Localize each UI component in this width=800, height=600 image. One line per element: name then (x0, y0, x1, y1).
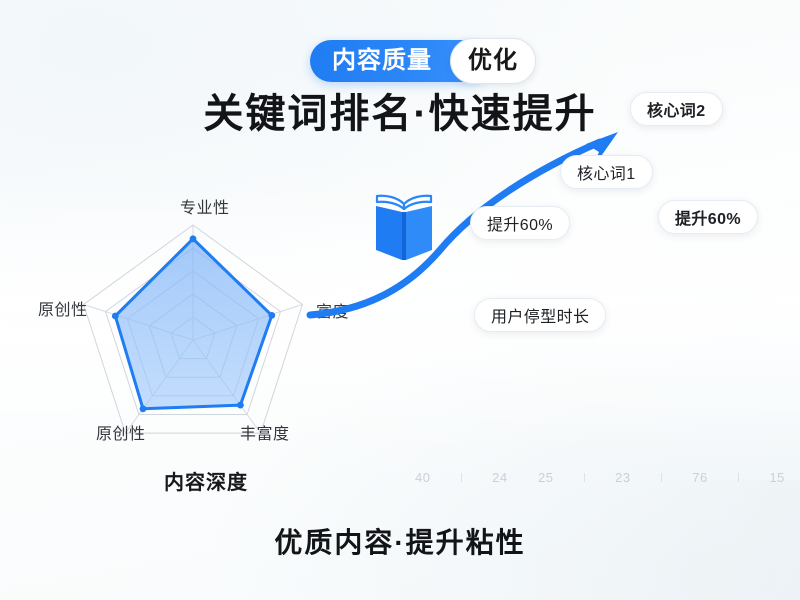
chip-uplift-left[interactable]: 提升60% (470, 206, 570, 240)
radar-chart-svg (28, 188, 358, 460)
axis-tick-row: 40 24 25 23 76 15 (415, 466, 785, 488)
chip-uplift-right[interactable]: 提升60% (658, 200, 758, 234)
axis-tick-mark (461, 473, 462, 482)
axis-tick-label: 76 (692, 470, 707, 485)
radar-chart: 专业性 富度 丰富度 原创性 原创性 (28, 188, 358, 460)
axis-tick-label: 23 (615, 470, 630, 485)
radar-caption: 内容深度 (164, 466, 248, 495)
open-book-icon (373, 190, 435, 264)
radar-label-bottom-left: 原创性 (96, 420, 146, 444)
axis-tick-label: 25 (538, 470, 553, 485)
axis-tick-mark (661, 473, 662, 482)
header-badge-group: 内容质量 优化 (0, 40, 800, 82)
quality-badge[interactable]: 内容质量 优化 (310, 40, 490, 82)
radar-label-left: 原创性 (38, 296, 88, 320)
footer-tagline: 优质内容·提升粘性 (0, 521, 800, 561)
quality-badge-label: 内容质量 (332, 49, 432, 73)
optimize-pill-label: 优化 (468, 49, 518, 73)
chip-dwell-time[interactable]: 用户停型时长 (474, 298, 606, 332)
poster-canvas: 内容质量 优化 关键词排名·快速提升 (0, 0, 800, 600)
radar-label-right: 富度 (316, 298, 349, 322)
chip-keyword-2[interactable]: 核心词2 (630, 92, 723, 126)
optimize-pill[interactable]: 优化 (450, 38, 536, 84)
axis-tick-mark (738, 473, 739, 482)
axis-tick-mark (584, 473, 585, 482)
axis-tick-label: 24 (492, 470, 507, 485)
radar-label-bottom-right: 丰富度 (240, 420, 290, 444)
radar-label-top: 专业性 (180, 194, 230, 218)
chip-keyword-1[interactable]: 核心词1 (560, 155, 653, 189)
axis-tick-label: 40 (415, 470, 430, 485)
axis-tick-label: 15 (769, 470, 784, 485)
